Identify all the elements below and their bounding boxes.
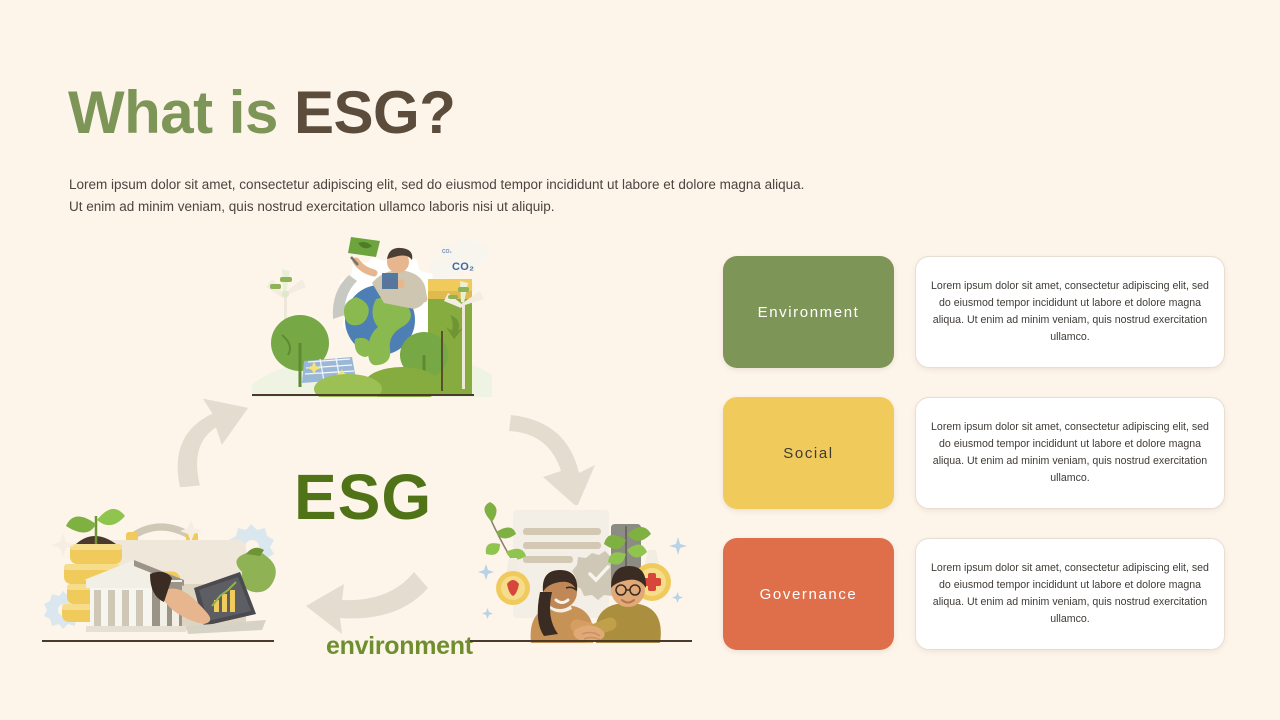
pillar-row-governance: Governance Lorem ipsum dolor sit amet, c… [723,538,1225,650]
social-illustration [470,500,695,643]
governance-ground-line [42,640,274,642]
page-title: What is ESG? [68,78,455,147]
environment-illustration: CO₂ CO₂ [252,235,492,397]
arrow-social-to-governance [300,570,435,645]
pillar-description-social: Lorem ipsum dolor sit amet, consectetur … [929,419,1211,487]
page-title-dark-part: ESG? [294,79,455,146]
pillar-description-environment: Lorem ipsum dolor sit amet, consectetur … [929,278,1211,346]
pillar-chip-social[interactable]: Social [723,397,894,509]
page-title-green-part: What is [68,79,294,146]
pillar-description-card-social: Lorem ipsum dolor sit amet, consectetur … [915,397,1225,509]
page-subtitle-line-2: Ut enim ad minim veniam, quis nostrud ex… [69,196,899,218]
sprout-icon [66,509,125,544]
pillar-chip-environment[interactable]: Environment [723,256,894,368]
page-subtitle: Lorem ipsum dolor sit amet, consectetur … [69,174,899,218]
pillar-label-environment: Environment [758,304,860,321]
pillar-row-social: Social Lorem ipsum dolor sit amet, conse… [723,397,1225,509]
esg-cycle-diagram: CO₂ CO₂ [30,235,710,680]
slide-canvas: What is ESG? Lorem ipsum dolor sit amet,… [0,0,1280,720]
pillar-description-card-governance: Lorem ipsum dolor sit amet, consectetur … [915,538,1225,650]
pillar-description-governance: Lorem ipsum dolor sit amet, consectetur … [929,560,1211,628]
pillar-row-environment: Environment Lorem ipsum dolor sit amet, … [723,256,1225,368]
page-subtitle-line-1: Lorem ipsum dolor sit amet, consectetur … [69,174,899,196]
arrow-governance-to-environment [165,387,275,487]
social-ground-line [470,640,692,642]
pillar-description-card-environment: Lorem ipsum dolor sit amet, consectetur … [915,256,1225,368]
pillar-chip-governance[interactable]: Governance [723,538,894,650]
co2-large-label: CO₂ [452,261,474,273]
co2-small-label: CO₂ [442,249,452,255]
environment-ground-line [252,394,474,396]
governance-illustration [42,498,287,643]
pillar-label-governance: Governance [760,586,858,603]
pillar-label-social: Social [783,445,833,462]
arrow-environment-to-social [505,405,605,505]
esg-center-label: ESG [294,460,432,534]
esg-pillar-list: Environment Lorem ipsum dolor sit amet, … [723,256,1225,679]
